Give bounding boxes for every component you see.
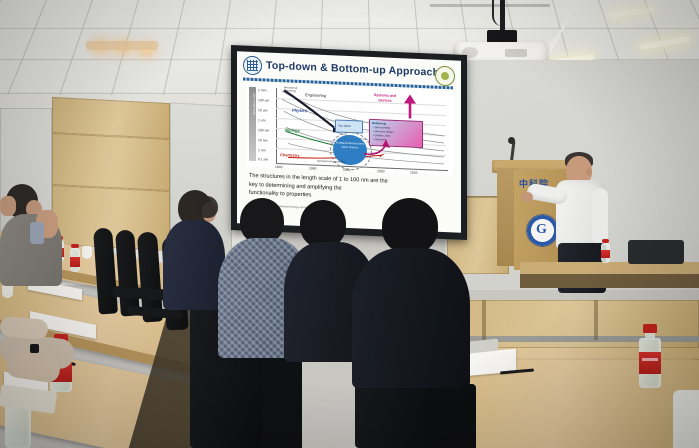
chart-label-physics: Physics — [292, 108, 307, 114]
chart-label-chemistry: Chemistry — [280, 152, 300, 158]
bottle-label — [601, 250, 610, 258]
wall-wood-panel — [52, 133, 170, 191]
attendee-hand-raised — [0, 196, 16, 216]
cabinet-seam — [482, 300, 486, 340]
attendee-navy-sweater — [163, 220, 225, 310]
university-emblem-glyph: G — [536, 222, 550, 238]
presenter-right-arm — [592, 188, 608, 244]
wall-wood-panel — [52, 97, 170, 139]
bottle — [5, 404, 31, 448]
wristwatch — [30, 344, 39, 353]
chart-arrow-up-icon — [401, 92, 419, 119]
presentation-room-photo: Top-down & Bottom-up Approaches Size / L… — [0, 0, 699, 448]
projector-pole — [500, 0, 505, 34]
bottle-label — [70, 257, 80, 267]
bottle-label — [639, 352, 661, 374]
slide-right-badge-icon — [435, 66, 455, 87]
chart-label-biology: Biology — [285, 127, 300, 133]
bottle-cap — [643, 324, 657, 333]
attendee-foreground-arm-2 — [0, 316, 49, 340]
bottle-cap — [71, 244, 79, 248]
downlight-housing — [86, 41, 158, 50]
attendee-foreground-right — [673, 390, 699, 448]
presenter-hand — [521, 192, 533, 202]
slide-left-badge-icon — [243, 56, 262, 76]
cabinet-seam — [594, 300, 598, 340]
stage-table-edge — [520, 274, 699, 288]
chart-callout-systems: Systems and devices — [367, 93, 403, 104]
chart-label-engineering: Engineering — [305, 92, 326, 98]
projector-vent — [505, 49, 527, 57]
paper-cup — [2, 284, 13, 298]
bottle-cap — [602, 239, 609, 243]
paper-cup — [82, 246, 92, 259]
attendee-head-small — [196, 196, 218, 218]
office-chair-foreground-4 — [424, 384, 476, 448]
attendee-head — [382, 198, 438, 254]
presenter-ear — [586, 168, 592, 176]
microphone-icon — [508, 137, 515, 144]
bottle-label-text — [642, 358, 658, 361]
attendee-collar — [30, 222, 44, 244]
attendee-head — [300, 200, 346, 248]
slide-title: Top-down & Bottom-up Approaches — [266, 60, 451, 80]
stage-chair — [628, 240, 684, 264]
chart-arrow-curve-icon — [362, 138, 392, 161]
attendee-dark-jacket-right — [352, 248, 470, 388]
slide-chart: Size / Length scale 1 mm 100 um 10 um 1 … — [247, 83, 453, 176]
chart-y-axis-label: Size / Length scale — [250, 93, 256, 115]
